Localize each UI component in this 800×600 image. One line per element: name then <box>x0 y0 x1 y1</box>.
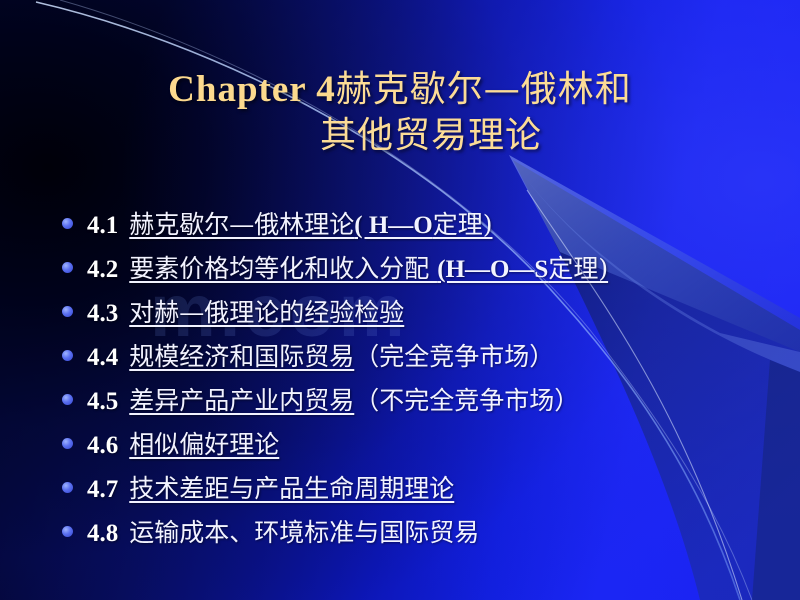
list-item-link[interactable]: 对赫—俄理论的经验检验 <box>129 298 404 327</box>
list-item-text[interactable]: 技术差距与产品生命周期理论 <box>129 469 454 505</box>
list-item-suffix: （不完全竞争市场） <box>354 386 579 415</box>
list-item[interactable]: 4.2 要素价格均等化和收入分配 (H—O—S定理) <box>62 249 782 293</box>
list-item[interactable]: 4.6 相似偏好理论 <box>62 425 782 469</box>
list-item-text[interactable]: 运输成本、环境标准与国际贸易 <box>129 513 479 549</box>
list-item-text[interactable]: 规模经济和国际贸易（完全竞争市场） <box>129 337 554 373</box>
list-item[interactable]: 4.4 规模经济和国际贸易（完全竞争市场） <box>62 337 782 381</box>
bullet-dot-icon <box>62 350 73 361</box>
bullet-dot-icon <box>62 438 73 449</box>
title-line-1: Chapter 4赫克歇尔—俄林和 <box>0 70 800 109</box>
list-item-link-tail[interactable]: 定理) <box>548 254 608 283</box>
list-item-number: 4.7 <box>87 476 118 504</box>
title-cjk-line-2: 其他贸易理论 <box>320 115 542 156</box>
title-line-2: 其他贸易理论 <box>0 117 800 155</box>
presentation-slide: m.com Chapter 4赫克歇尔—俄林和 其他贸易理论 4.1 赫克歇尔—… <box>0 0 800 600</box>
list-item-number: 4.6 <box>87 432 118 460</box>
bullet-dot-icon <box>62 394 73 405</box>
list-item[interactable]: 4.8 运输成本、环境标准与国际贸易 <box>62 513 782 557</box>
list-item[interactable]: 4.3 对赫—俄理论的经验检验 <box>62 293 782 337</box>
list-item-text[interactable]: 要素价格均等化和收入分配 (H—O—S定理) <box>129 249 608 285</box>
list-item-link[interactable]: 规模经济和国际贸易 <box>129 342 354 371</box>
list-item-suffix: 运输成本、环境标准与国际贸易 <box>129 518 479 547</box>
list-item-link-tail[interactable]: 定理) <box>433 210 493 239</box>
list-item-link[interactable]: 相似偏好理论 <box>129 430 279 459</box>
title-chapter-label: Chapter 4 <box>168 69 336 110</box>
list-item-number: 4.8 <box>87 520 118 548</box>
slide-title: Chapter 4赫克歇尔—俄林和 其他贸易理论 <box>0 70 800 155</box>
list-item-link[interactable]: 差异产品产业内贸易 <box>129 386 354 415</box>
list-item[interactable]: 4.5 差异产品产业内贸易（不完全竞争市场） <box>62 381 782 425</box>
list-item-link[interactable]: 技术差距与产品生命周期理论 <box>129 474 454 503</box>
bullet-dot-icon <box>62 262 73 273</box>
list-item-text[interactable]: 相似偏好理论 <box>129 425 279 461</box>
list-item-link[interactable]: 赫克歇尔—俄林理论 <box>129 210 354 239</box>
list-item-text[interactable]: 对赫—俄理论的经验检验 <box>129 293 404 329</box>
list-item-text[interactable]: 赫克歇尔—俄林理论( H—O定理) <box>129 205 492 241</box>
bullet-dot-icon <box>62 526 73 537</box>
list-item[interactable]: 4.7 技术差距与产品生命周期理论 <box>62 469 782 513</box>
list-item-suffix: （完全竞争市场） <box>354 342 554 371</box>
bullet-dot-icon <box>62 218 73 229</box>
list-item-number: 4.2 <box>87 256 118 284</box>
list-item-text[interactable]: 差异产品产业内贸易（不完全竞争市场） <box>129 381 579 417</box>
bullet-dot-icon <box>62 482 73 493</box>
list-item-number: 4.3 <box>87 300 118 328</box>
bullet-dot-icon <box>62 306 73 317</box>
list-item-number: 4.4 <box>87 344 118 372</box>
list-item-number: 4.1 <box>87 212 118 240</box>
list-item-number: 4.5 <box>87 388 118 416</box>
list-item-link-bold[interactable]: ( H—O <box>354 212 432 239</box>
list-item-link[interactable]: 要素价格均等化和收入分配 <box>129 254 437 283</box>
title-cjk-line-1: 赫克歇尔—俄林和 <box>336 69 632 110</box>
list-item-link-bold[interactable]: (H—O—S <box>437 256 548 283</box>
list-item[interactable]: 4.1 赫克歇尔—俄林理论( H—O定理) <box>62 205 782 249</box>
agenda-list: 4.1 赫克歇尔—俄林理论( H—O定理) 4.2 要素价格均等化和收入分配 (… <box>62 205 782 557</box>
